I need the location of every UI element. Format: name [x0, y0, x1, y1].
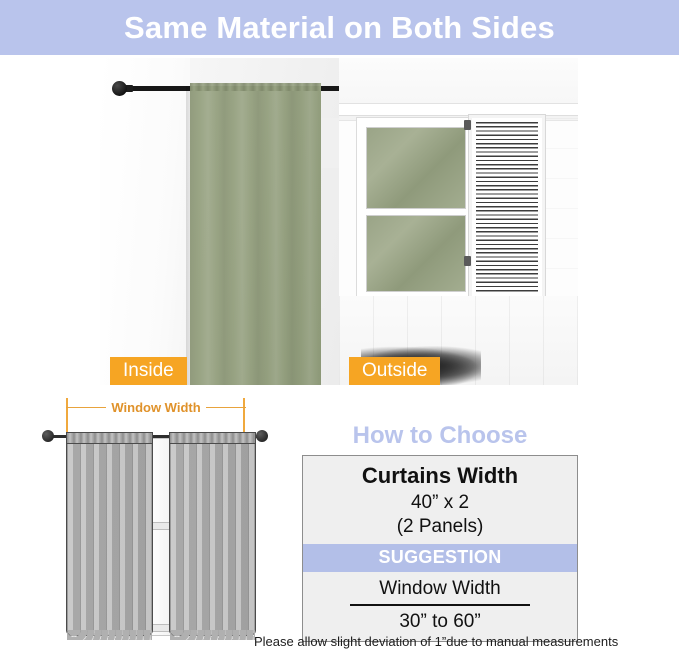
- diagram-rod-pocket-left: [66, 432, 153, 444]
- photo-inside-view: Inside: [100, 58, 339, 385]
- diagram-curtain-panel-left: [66, 438, 153, 636]
- how-to-choose-table: Curtains Width 40” x 2 (2 Panels) SUGGES…: [302, 455, 578, 642]
- interior-background-window: [321, 118, 339, 168]
- photo-outside-view: Outside: [339, 58, 578, 385]
- window-pane-top: [366, 127, 466, 209]
- diagram-curtain-panel-right: [169, 438, 256, 636]
- tag-inside: Inside: [110, 357, 187, 385]
- page-title: Same Material on Both Sides: [124, 10, 555, 46]
- measurement-disclaimer: Please allow slight deviation of 1”due t…: [254, 634, 618, 649]
- shutter-hinge-top-icon: [464, 120, 471, 130]
- row-curtains-width-label: Curtains Width: [303, 456, 577, 491]
- comparison-photo-strip: Inside Outside: [100, 58, 578, 385]
- header-banner: Same Material on Both Sides: [0, 0, 679, 55]
- window-width-diagram: Window Width: [28, 398, 280, 648]
- row-curtains-size: 40” x 2: [303, 491, 577, 515]
- window-pane-bottom: [366, 215, 466, 292]
- shutter-hinge-bottom-icon: [464, 256, 471, 266]
- diagram-finial-right-icon: [256, 430, 268, 442]
- measure-label-row: Window Width: [66, 398, 246, 416]
- diagram-panel-hem-right: [170, 630, 255, 640]
- diagram-rod-pocket-right: [169, 432, 256, 444]
- row-panel-count: (2 Panels): [303, 515, 577, 544]
- how-to-choose-title: How to Choose: [302, 422, 578, 450]
- sage-curtain-panel: [190, 86, 321, 385]
- diagram-panel-hem-left: [67, 630, 152, 640]
- curtain-rod-finial-icon: [112, 81, 127, 96]
- measure-line-left: [66, 407, 106, 408]
- measure-line-right: [206, 407, 246, 408]
- exterior-louvered-shutter: [469, 115, 545, 301]
- diagram-finial-left-icon: [42, 430, 54, 442]
- curtain-rod-pocket: [190, 83, 321, 91]
- shutter-louvers: [476, 122, 538, 294]
- tag-outside: Outside: [349, 357, 440, 385]
- row-window-width-label: Window Width: [303, 572, 577, 604]
- interior-wall-left: [100, 58, 190, 385]
- row-suggestion-band: SUGGESTION: [303, 544, 577, 572]
- measure-label: Window Width: [111, 400, 200, 415]
- exterior-window-frame: [357, 118, 475, 303]
